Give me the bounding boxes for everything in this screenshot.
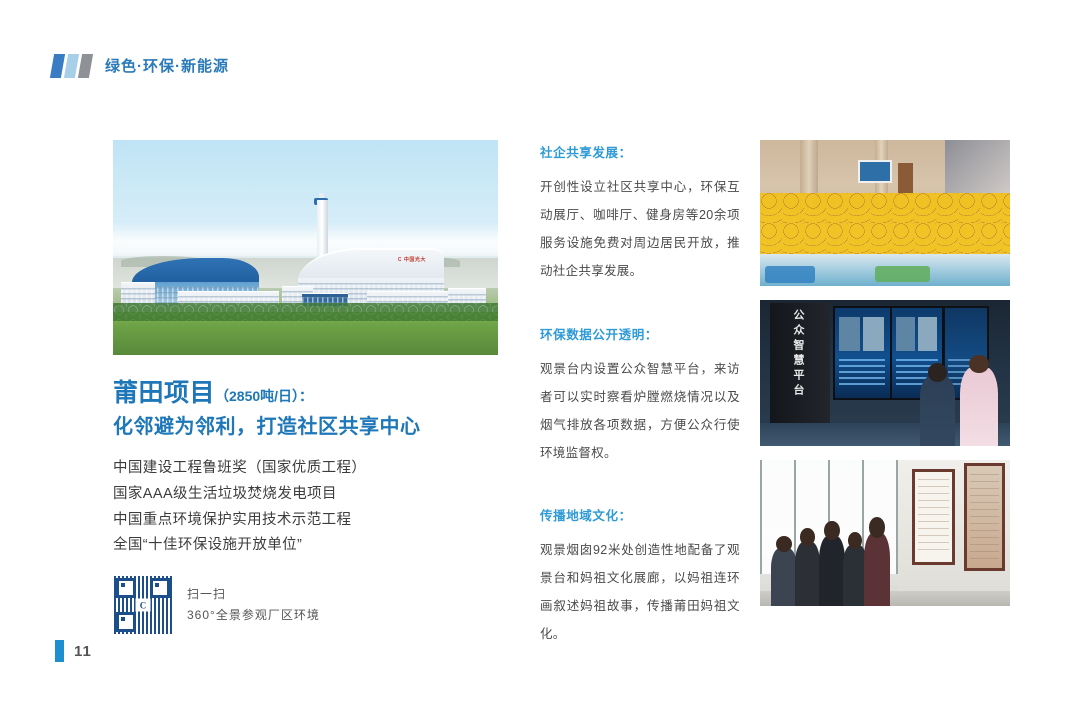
page-number: 11: [74, 643, 92, 660]
block-heading: 社企共享发展：: [540, 142, 740, 161]
photo-students-exhibition: [760, 140, 1010, 286]
qr-row: C 扫一扫 360°全景参观厂区环境: [113, 575, 498, 635]
left-column: C 中国光大 莆田项目（2850吨/日）： 化邻避为邻利，打造社区共享中心 中国…: [113, 140, 498, 635]
qr-finder-top-left: [116, 578, 136, 598]
logo-bar-1: [50, 54, 65, 78]
qr-code-icon[interactable]: C: [113, 575, 173, 635]
hero-plant-photo: C 中国光大: [113, 140, 498, 355]
qr-finder-top-right: [150, 578, 170, 598]
block-body: 观景台内设置公众智慧平台，来访者可以实时察看炉膛燃烧情况以及烟气排放各项数据，方…: [540, 355, 740, 468]
block-heading: 环保数据公开透明：: [540, 324, 740, 343]
block-heading: 传播地域文化：: [540, 505, 740, 524]
qr-caption-line1: 扫一扫: [187, 584, 320, 605]
project-name: 莆田项目: [113, 379, 215, 407]
qr-caption-line2: 360°全景参观厂区环境: [187, 605, 320, 626]
page-title: 莆田项目（2850吨/日）：: [113, 377, 498, 410]
project-subtitle: 化邻避为邻利，打造社区共享中心: [113, 414, 498, 440]
text-block-2: 环保数据公开透明： 观景台内设置公众智慧平台，来访者可以实时察看炉膛燃烧情况以及…: [540, 324, 740, 468]
qr-caption: 扫一扫 360°全景参观厂区环境: [187, 584, 320, 626]
photo-culture-corridor: [760, 460, 1010, 606]
text-block-1: 社企共享发展： 开创性设立社区共享中心，环保互动展厅、咖啡厅、健身房等20余项服…: [540, 142, 740, 286]
logo-bar-3: [78, 54, 93, 78]
page-footer: 11: [55, 640, 92, 662]
list-item: 全国“十佳环保设施开放单位”: [113, 533, 498, 559]
block-body: 观景烟囱92米处创造性地配备了观景台和妈祖文化展廊，以妈祖连环画叙述妈祖故事，传…: [540, 536, 740, 649]
hero-plant-logo-text: C 中国光大: [398, 256, 426, 263]
header-tagline: 绿色·环保·新能源: [105, 55, 229, 76]
logo-bar-2: [64, 54, 79, 78]
text-column: 社企共享发展： 开创性设立社区共享中心，环保互动展厅、咖啡厅、健身房等20余项服…: [540, 142, 740, 649]
qr-finder-bottom-left: [116, 612, 136, 632]
photo-column: 公众智慧平台: [760, 140, 1010, 620]
photo-caption-smart-platform: 公众智慧平台: [790, 309, 806, 399]
list-item: 国家AAA级生活垃圾焚烧发电项目: [113, 482, 498, 508]
award-list: 中国建设工程鲁班奖（国家优质工程） 国家AAA级生活垃圾焚烧发电项目 中国重点环…: [113, 456, 498, 559]
page-header: 绿色·环保·新能源: [52, 52, 229, 78]
hero-tree-row: [113, 303, 498, 320]
block-body: 开创性设立社区共享中心，环保互动展厅、咖啡厅、健身房等20余项服务设施免费对周边…: [540, 173, 740, 286]
qr-center-logo: C: [136, 599, 151, 612]
list-item: 中国重点环境保护实用技术示范工程: [113, 508, 498, 534]
photo-smart-platform: 公众智慧平台: [760, 300, 1010, 446]
project-capacity: （2850吨/日）：: [215, 388, 313, 404]
page-number-bar-icon: [55, 640, 64, 662]
three-bars-logo-icon: [52, 52, 91, 78]
list-item: 中国建设工程鲁班奖（国家优质工程）: [113, 456, 498, 482]
text-block-3: 传播地域文化： 观景烟囱92米处创造性地配备了观景台和妈祖文化展廊，以妈祖连环画…: [540, 505, 740, 649]
